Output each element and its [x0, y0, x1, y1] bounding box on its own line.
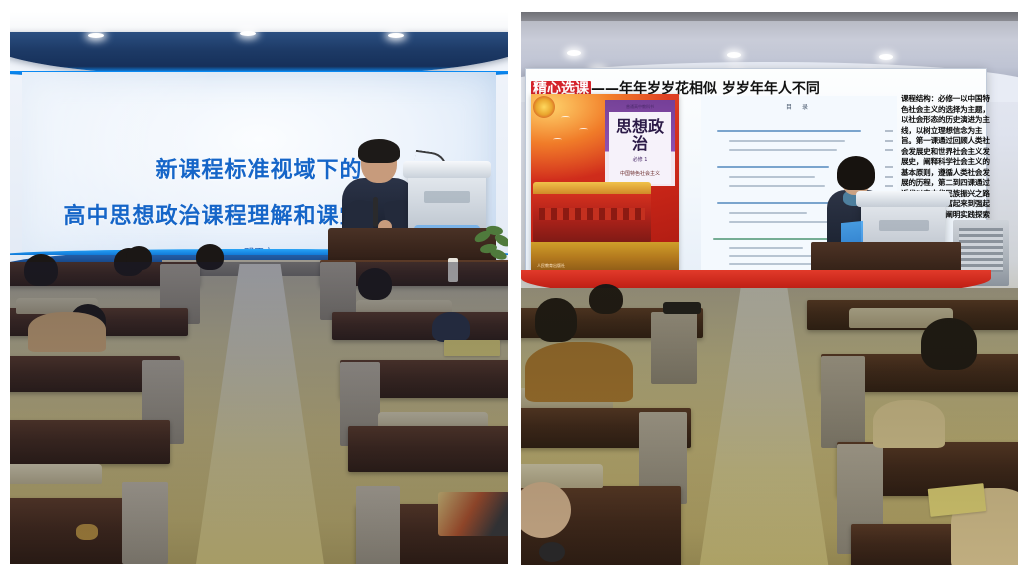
textbook-subtitle-top: 普通高中教科书 — [611, 104, 669, 110]
attendee-head — [126, 246, 152, 270]
table-row — [348, 426, 508, 472]
attendee-shoulders — [525, 342, 633, 402]
toc-section-line — [729, 176, 815, 178]
desk-side-panel — [356, 486, 400, 564]
left-photo: 新课程标准视域下的 高中思想政治课程理解和课堂教学实施 邓正立 — [10, 12, 508, 564]
national-emblem-icon — [533, 96, 555, 118]
attendee-head — [358, 268, 392, 300]
ceiling-light-icon — [240, 31, 256, 36]
podium-top — [403, 161, 491, 178]
ceiling-light-icon — [727, 52, 741, 58]
toc-heading: 目 录 — [701, 102, 897, 111]
podium-top — [856, 191, 950, 207]
ceiling-light-icon — [88, 33, 104, 38]
toc-section-line — [729, 247, 803, 249]
floor-object — [539, 542, 565, 562]
toc-section-line — [729, 140, 845, 142]
dove-icon — [579, 128, 588, 131]
toc-page-number — [885, 166, 893, 168]
seat-back — [10, 464, 102, 484]
textbook-series: 中国特色社会主义 — [609, 170, 671, 177]
table-row — [332, 312, 508, 340]
toc-page-number — [885, 185, 893, 187]
attendee-head — [921, 318, 977, 370]
toc-chapter-line — [717, 130, 861, 132]
desk-side-panel — [651, 312, 697, 384]
table-row — [10, 420, 170, 464]
microphone-icon — [373, 197, 378, 227]
ceiling-beam — [521, 12, 1018, 21]
toc-section-line — [729, 149, 837, 151]
desk-side-panel — [122, 482, 168, 564]
attendee-head — [24, 254, 58, 286]
gate-windows — [539, 208, 645, 220]
desk-side-panel — [821, 356, 865, 448]
toc-section-line — [729, 212, 807, 214]
paper-handout — [928, 483, 987, 517]
right-photo: 精心选课——年年岁岁花相似 岁岁年年人不同 普通高中教科书 思想政治 必修 1 … — [521, 12, 1018, 565]
toc-page-number — [885, 176, 893, 178]
attendee-shoulders — [873, 400, 945, 448]
toc-page-number — [885, 149, 893, 151]
toc-page-number — [885, 130, 893, 132]
gate-roof — [533, 182, 651, 194]
textbook-cover-image: 普通高中教科书 思想政治 必修 1 中国特色社会主义 人民教育出版社 — [531, 94, 679, 272]
textbook-publisher: 人民教育出版社 — [537, 263, 565, 269]
ceiling-light-icon — [567, 50, 581, 56]
attendee-head — [535, 298, 577, 342]
attendee-head — [589, 284, 623, 314]
water-bottle — [448, 258, 458, 282]
toc-chapter-line — [717, 166, 829, 168]
folded-jacket — [663, 302, 701, 314]
podium-nameplate — [424, 191, 470, 203]
cabinet-vents — [959, 228, 1003, 272]
floor-object — [76, 524, 98, 540]
ceiling-light-icon — [388, 33, 404, 38]
tote-bag — [438, 492, 508, 536]
dove-icon — [561, 116, 570, 119]
attendee-shoulders — [28, 312, 106, 352]
toc-page-number — [885, 140, 893, 142]
photo-collage: 新课程标准视域下的 高中思想政治课程理解和课堂教学实施 邓正立 — [0, 0, 1024, 575]
textbook-volume: 必修 1 — [611, 156, 669, 163]
attendee-head — [196, 244, 224, 270]
ceiling-light-icon — [879, 54, 893, 60]
attendee-with-cap — [432, 312, 470, 342]
presenter-hair — [837, 156, 875, 190]
toc-section-line — [729, 185, 825, 187]
presenter-hair — [358, 139, 400, 163]
dove-icon — [553, 138, 562, 141]
paper-sheet — [444, 340, 500, 356]
tiananmen-illustration — [533, 190, 651, 242]
podium-nameplate — [879, 220, 929, 231]
textbook-title: 思想政治 — [611, 118, 669, 152]
